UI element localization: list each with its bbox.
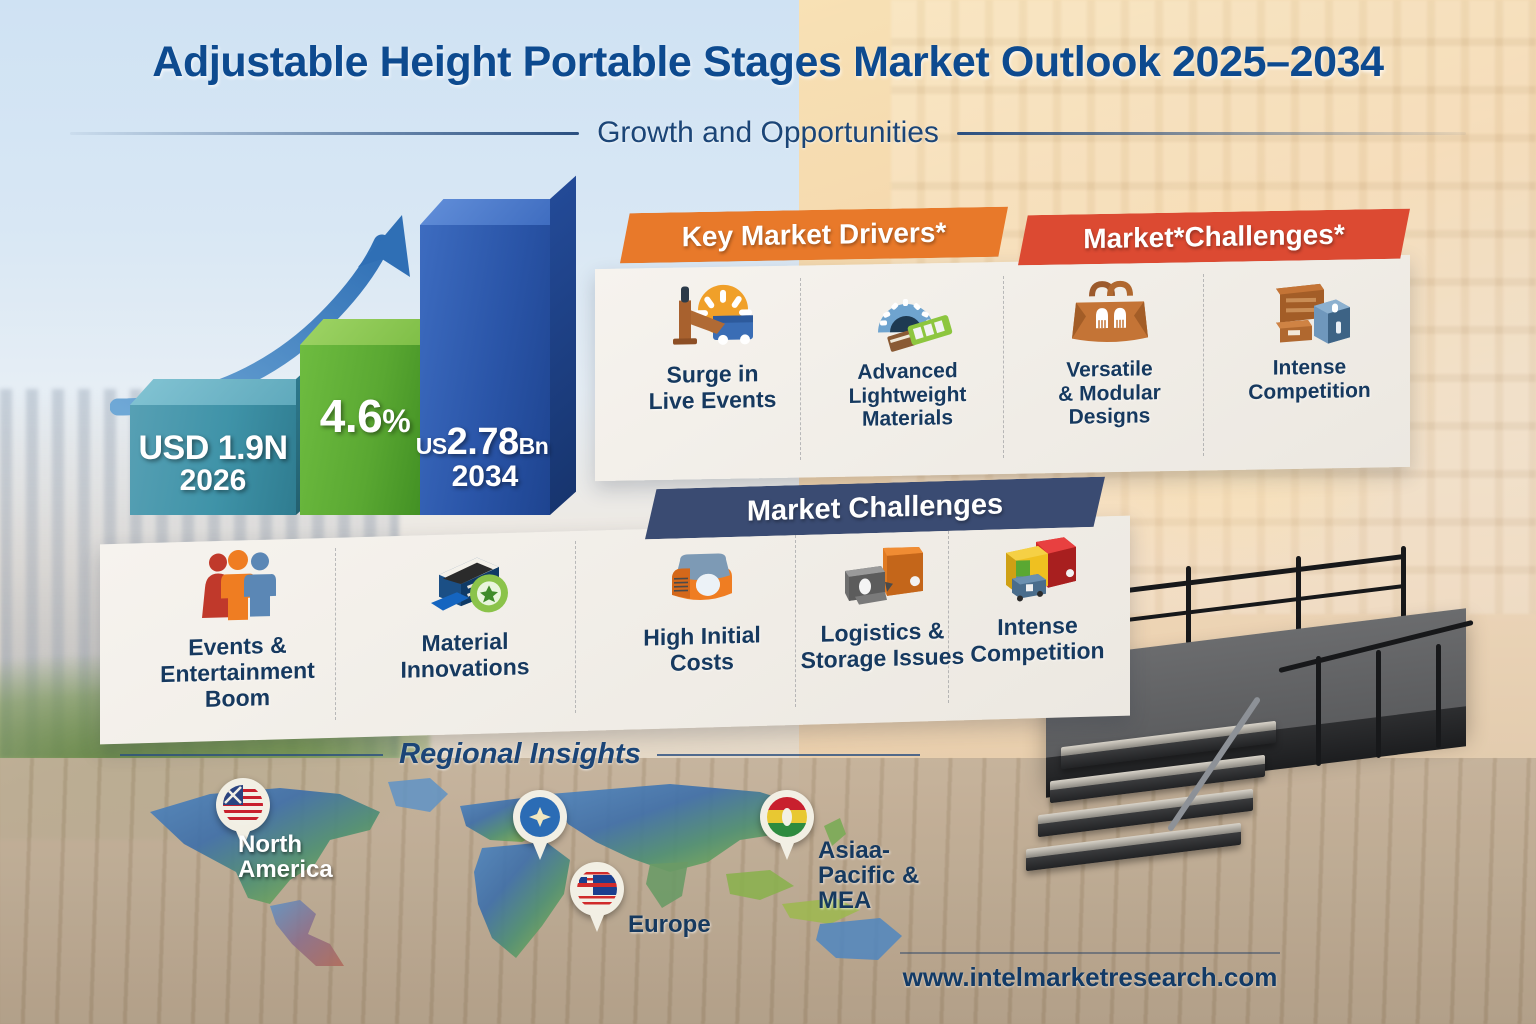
- blue-star-flag-icon: [520, 797, 560, 837]
- lower-card-events-entertainment-boom[interactable]: Events & Entertainment Boom: [140, 545, 335, 726]
- map-label-europe: Europe: [628, 912, 748, 937]
- website-url[interactable]: www.intelmarketresearch.com: [900, 962, 1280, 993]
- driver-card-2-line2: Lightweight: [849, 382, 967, 408]
- bar-cagr-value: 4.6: [320, 390, 382, 442]
- usa-flag-icon: [223, 785, 263, 825]
- map-pin-asia-pacific-mea[interactable]: [760, 790, 814, 862]
- subtitle-row: Growth and Opportunities: [0, 116, 1536, 150]
- stage-lift-icon: [665, 275, 761, 357]
- lower-card-material-innovations[interactable]: Material Innovations: [370, 541, 560, 722]
- toolbag-icon: [1062, 271, 1158, 353]
- driver-card-2-line1: Advanced: [849, 359, 967, 385]
- lower-card-4-line2: Storage Issues: [801, 643, 965, 673]
- regional-rule-left: [120, 754, 383, 756]
- lower-card-2-line2: Innovations: [400, 654, 529, 683]
- bar-cagr-unit: %: [382, 403, 410, 439]
- challenge-card-2-line1: Intense: [1248, 355, 1370, 381]
- subtitle-rule-left: [70, 132, 579, 135]
- driver-card-2-line3: Materials: [849, 406, 967, 432]
- regional-insights-header: Regional Insights: [120, 738, 920, 771]
- key-market-drivers-banner: Key Market Drivers*: [620, 207, 1008, 264]
- orange-case-icon: [654, 537, 750, 620]
- colorful-blocks-icon: [990, 527, 1086, 610]
- apac-flag-icon: [767, 797, 807, 837]
- driver-card-surge-live-events[interactable]: Surge in Live Events: [625, 274, 800, 467]
- challenge-card-intense-competition[interactable]: Intense Competition: [1222, 268, 1397, 461]
- map-label-north-america: North America: [238, 832, 348, 882]
- driver-card-advanced-lightweight-materials[interactable]: Advanced Lightweight Materials: [820, 272, 995, 465]
- driver-card-1-line1: Surge in: [649, 361, 777, 389]
- market-challenges-title: Market*Challenges*: [1083, 219, 1344, 256]
- regional-rule-right: [657, 754, 920, 756]
- challenge-card-2-line2: Competition: [1248, 378, 1370, 404]
- bar-2026: USD 1.9N 2026: [130, 405, 296, 515]
- stage-steps: [1026, 734, 1276, 884]
- map-label-asia-pacific-mea: Asiaa- Pacific & MEA: [818, 838, 938, 914]
- lower-divider-1: [335, 548, 337, 720]
- subtitle-rule-right: [957, 132, 1466, 135]
- page-title: Adjustable Height Portable Stages Market…: [0, 38, 1536, 87]
- challenge-card-1-line2: & Modular: [1058, 381, 1161, 406]
- driver-card-1-line2: Live Events: [649, 387, 777, 415]
- bar-cagr: 4.6%: [300, 345, 430, 515]
- map-pin-center[interactable]: [513, 790, 567, 862]
- lower-banner-title: Market Challenges: [747, 488, 1003, 528]
- lower-card-1-line3: Boom: [160, 683, 315, 713]
- lower-card-1-line2: Entertainment: [160, 658, 315, 688]
- lower-card-high-initial-costs[interactable]: High Initial Costs: [612, 535, 792, 716]
- challenge-card-versatile-modular-designs[interactable]: Versatile & Modular Designs: [1022, 270, 1197, 463]
- lower-card-logistics-storage-issues[interactable]: Logistics & Storage Issues: [800, 532, 965, 713]
- key-market-drivers-title: Key Market Drivers*: [682, 217, 947, 254]
- lightweight-materials-icon: [860, 273, 956, 355]
- bar-2034-prefix: US: [416, 433, 447, 459]
- lower-divider-3: [795, 535, 797, 707]
- bar-2026-year: 2026: [130, 466, 296, 497]
- lower-card-5-line2: Competition: [970, 638, 1104, 667]
- grey-storage-boxes-icon: [835, 533, 931, 616]
- stacked-boxes-icon: [1262, 269, 1358, 351]
- material-printer-icon: [417, 543, 513, 626]
- bar-2034-year: 2034: [420, 462, 550, 493]
- lower-divider-2: [575, 541, 577, 713]
- infographic-canvas: Adjustable Height Portable Stages Market…: [0, 0, 1536, 1024]
- lower-card-3-line1: High Initial: [643, 622, 761, 651]
- upper-divider-2: [1003, 276, 1005, 458]
- regional-insights-title: Regional Insights: [399, 738, 641, 771]
- eu-flag-icon: [577, 869, 617, 909]
- people-group-icon: [190, 547, 286, 630]
- upper-divider-3: [1203, 274, 1205, 456]
- lower-card-intense-competition[interactable]: Intense Competition: [955, 526, 1120, 707]
- lower-card-3-line2: Costs: [643, 648, 761, 677]
- page-subtitle: Growth and Opportunities: [597, 116, 939, 150]
- bar-2034: US2.78Bn 2034: [420, 225, 550, 515]
- market-challenges-banner: Market*Challenges*: [1018, 209, 1410, 266]
- challenge-card-1-line3: Designs: [1058, 404, 1161, 429]
- market-growth-bar-chart: USD 1.9N 2026 4.6% US2.78Bn: [110, 195, 590, 515]
- challenge-card-1-line1: Versatile: [1058, 357, 1161, 382]
- bar-2034-value: 2.78: [447, 421, 519, 463]
- upper-divider-1: [800, 278, 802, 460]
- bar-2034-unit: Bn: [519, 433, 549, 459]
- bar-2026-value: USD 1.9N: [130, 431, 296, 466]
- map-pin-europe[interactable]: [570, 862, 624, 934]
- footer-rule: [900, 952, 1280, 954]
